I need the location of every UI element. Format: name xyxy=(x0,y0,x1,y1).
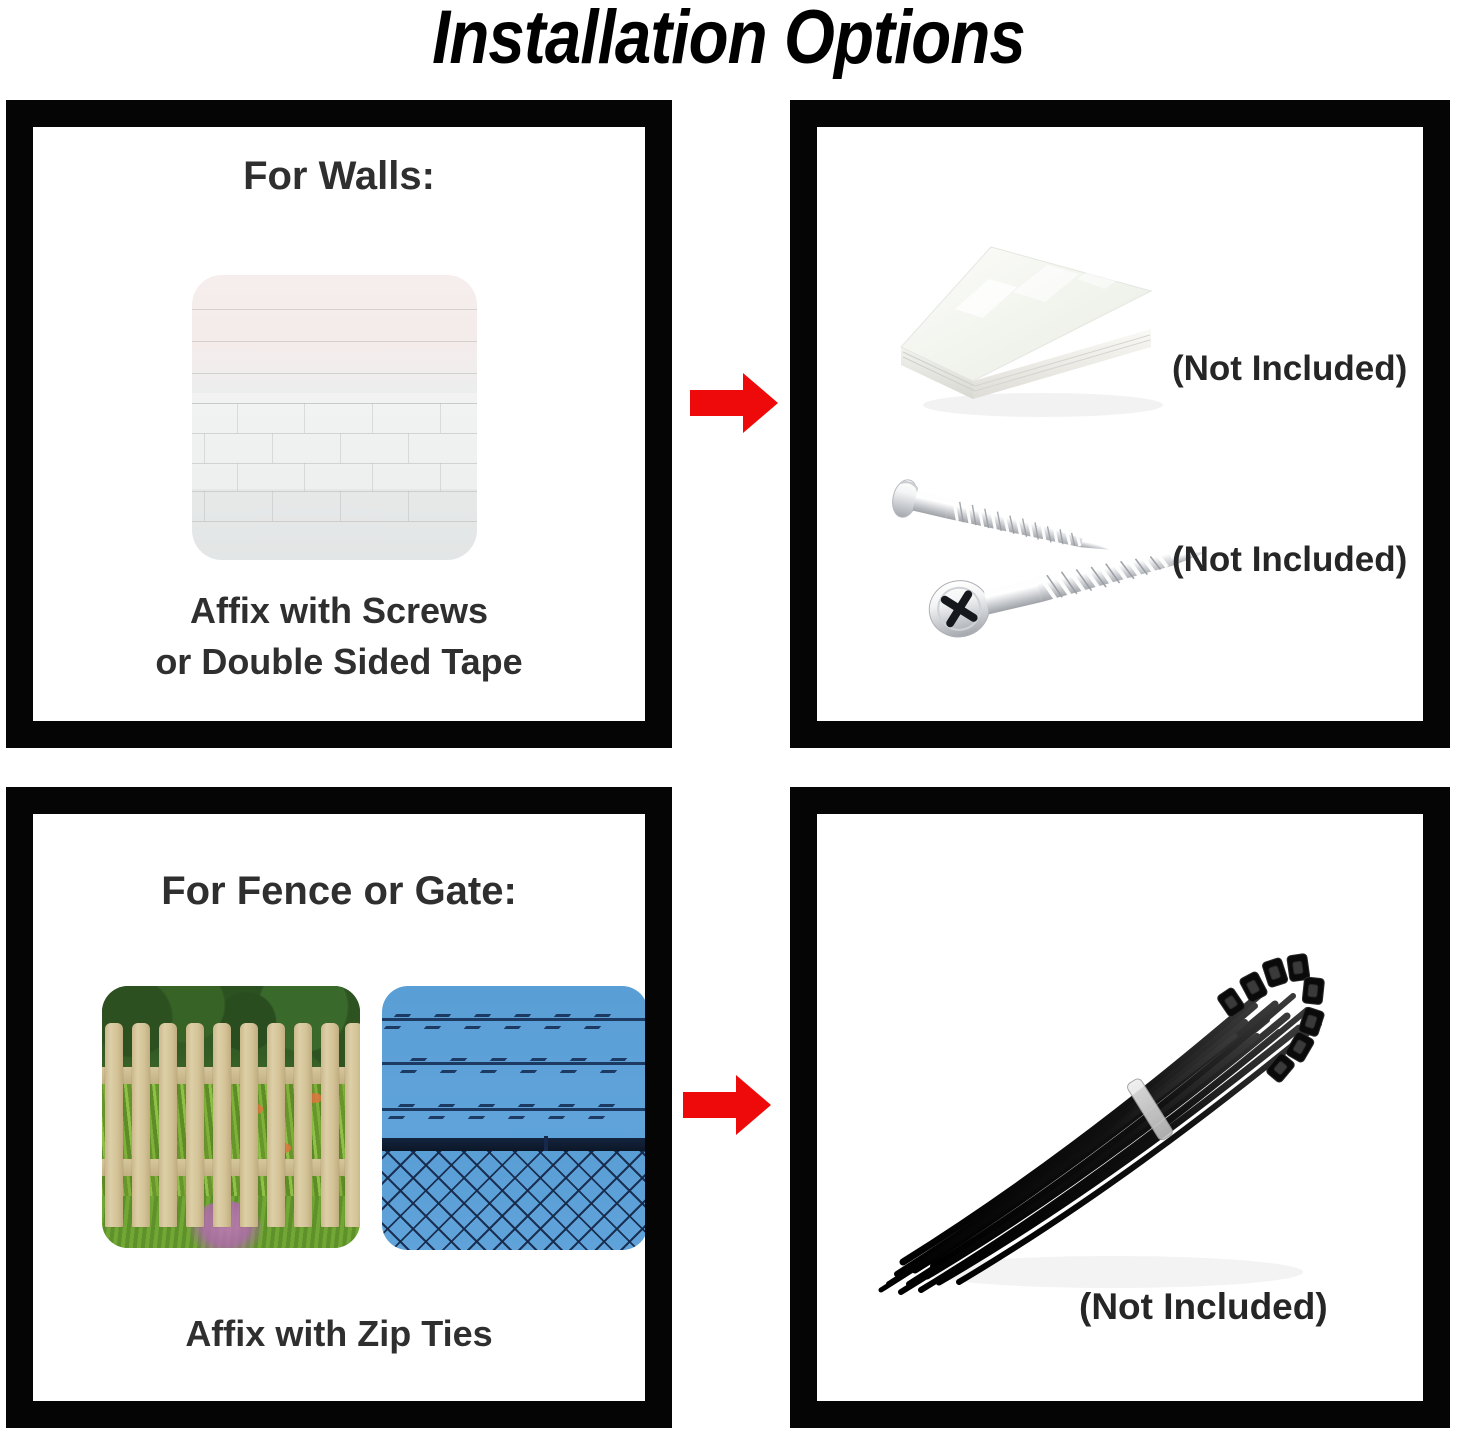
screws-not-included-label: (Not Included) xyxy=(1172,540,1407,580)
panel-wall-hardware-content: (Not Included) xyxy=(817,127,1423,721)
barbed-wire-chain-link-fence-photo xyxy=(382,986,645,1250)
wooden-picket-fence-photo xyxy=(102,986,360,1248)
page-title: Installation Options xyxy=(102,0,1355,81)
panel-fence-hardware: (Not Included) xyxy=(790,787,1450,1428)
double-sided-tape-stack-photo xyxy=(883,239,1183,424)
black-zip-ties-bundle-photo xyxy=(863,932,1333,1312)
panel-for-fence-or-gate: For Fence or Gate: xyxy=(6,787,672,1428)
for-walls-caption-line1: Affix with Screws xyxy=(33,585,645,636)
for-walls-caption-line2: or Double Sided Tape xyxy=(33,636,645,687)
zip-ties-not-included-label: (Not Included) xyxy=(1079,1286,1328,1328)
red-right-arrow-icon xyxy=(688,370,780,436)
panel-for-walls-content: For Walls: xyxy=(33,127,645,721)
for-walls-heading: For Walls: xyxy=(33,154,645,199)
red-right-arrow-icon-2 xyxy=(681,1072,773,1138)
white-brick-wall-photo xyxy=(192,275,477,560)
tape-not-included-label: (Not Included) xyxy=(1172,349,1407,389)
for-walls-caption: Affix with Screws or Double Sided Tape xyxy=(33,585,645,687)
for-fence-caption: Affix with Zip Ties xyxy=(33,1308,645,1359)
panel-wall-hardware: (Not Included) xyxy=(790,100,1450,748)
panel-for-fence-content: For Fence or Gate: xyxy=(33,814,645,1401)
for-fence-heading: For Fence or Gate: xyxy=(33,869,645,914)
panel-for-walls: For Walls: xyxy=(6,100,672,748)
panel-fence-hardware-content: (Not Included) xyxy=(817,814,1423,1401)
